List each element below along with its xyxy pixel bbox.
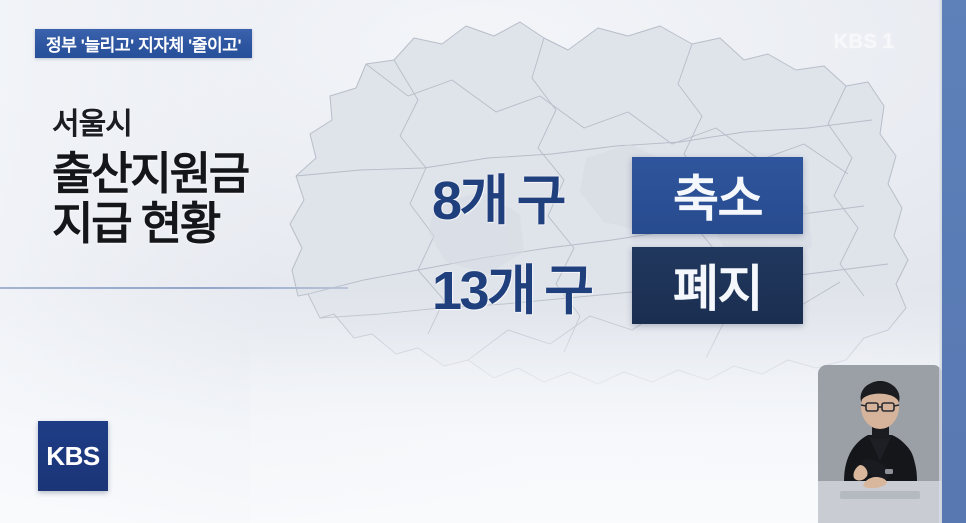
title-line-1: 출산지원금 [52, 149, 382, 199]
statistics-group: 8개구 축소 13개구 폐지 [432, 150, 803, 330]
stat-row-reduce: 8개구 축소 [432, 150, 803, 240]
interpreter-figure [818, 365, 942, 523]
sign-language-interpreter-inset [818, 365, 942, 523]
stat-count-reduce: 8개구 [432, 156, 632, 235]
stat-unit-reduce: 구 [517, 171, 564, 231]
broadcast-graphic-screen: 정부 '늘리고' 지자체 '줄이고' 서울시 출산지원금 지급 현황 8개구 축… [0, 0, 966, 523]
title-subject: 서울시 [52, 108, 382, 143]
title-block: 서울시 출산지원금 지급 현황 [52, 108, 382, 249]
stat-tag-reduce: 축소 [632, 157, 803, 234]
kbs-logo-text: KBS [46, 441, 99, 472]
headline-banner: 정부 '늘리고' 지자체 '줄이고' [35, 29, 252, 58]
stat-tag-abolish: 폐지 [632, 247, 803, 324]
stat-count-value-abolish: 13개 [432, 261, 534, 321]
title-divider-rule [0, 287, 348, 289]
stat-unit-abolish: 구 [544, 261, 591, 321]
stat-row-abolish: 13개구 폐지 [432, 240, 803, 330]
kbs-logo: KBS [38, 421, 108, 491]
title-line-2: 지급 현황 [52, 199, 382, 249]
stat-count-value-reduce: 8개 [432, 171, 507, 231]
stat-count-abolish: 13개구 [432, 246, 632, 325]
right-blue-bar [942, 0, 966, 523]
